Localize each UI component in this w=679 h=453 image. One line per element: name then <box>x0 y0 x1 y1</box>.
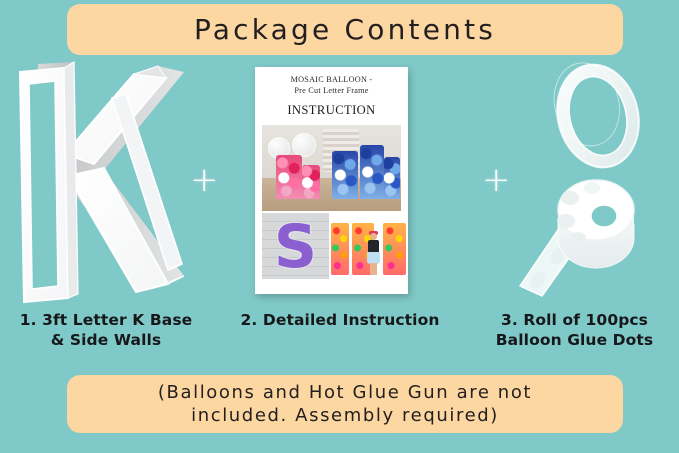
photo-two-letters-with-child <box>329 219 408 279</box>
letter-k-illustration <box>8 58 190 306</box>
glue-dot-ring <box>546 58 650 176</box>
child-figure <box>367 233 380 275</box>
booklet-cover-photos: S <box>255 125 408 279</box>
caption-item-3: 3. Roll of 100pcs Balloon Glue Dots <box>472 311 677 350</box>
caption-item-3-line-2: Balloon Glue Dots <box>472 331 677 351</box>
header-banner: Package Contents <box>67 4 623 55</box>
glue-dot-roll <box>520 180 634 296</box>
booklet-title: INSTRUCTION <box>262 103 401 118</box>
infographic-canvas: Package Contents <box>0 0 679 453</box>
caption-item-3-line-1: 3. Roll of 100pcs <box>472 311 677 331</box>
photo-purple-letter-s: S <box>262 213 329 279</box>
caption-item-2-line-1: 2. Detailed Instruction <box>240 311 440 331</box>
footer-banner: (Balloons and Hot Glue Gun are not inclu… <box>67 375 623 433</box>
balloon-letter-s-glyph: S <box>267 216 323 277</box>
item-instruction-booklet: MOSAIC BALLOON - Pre Cut Letter Frame IN… <box>255 67 408 294</box>
footer-line-2: included. Assembly required) <box>191 404 499 427</box>
item-balloon-glue-dots <box>500 58 675 306</box>
caption-item-2: 2. Detailed Instruction <box>240 311 440 331</box>
booklet-subtitle-line-1: MOSAIC BALLOON - <box>262 74 401 85</box>
footer-line-1: (Balloons and Hot Glue Gun are not <box>158 381 532 404</box>
photo-hallway-balloon-columns <box>262 125 401 211</box>
glue-dots-illustration <box>500 58 675 306</box>
booklet-subtitle-line-2: Pre Cut Letter Frame <box>262 85 401 96</box>
caption-item-1: 1. 3ft Letter K Base & Side Walls <box>2 311 210 350</box>
plus-separator-1: + <box>190 167 216 193</box>
item-letter-k-frame <box>8 58 190 306</box>
page-title: Package Contents <box>194 13 496 46</box>
caption-item-1-line-1: 1. 3ft Letter K Base <box>2 311 210 331</box>
caption-item-1-line-2: & Side Walls <box>2 331 210 351</box>
